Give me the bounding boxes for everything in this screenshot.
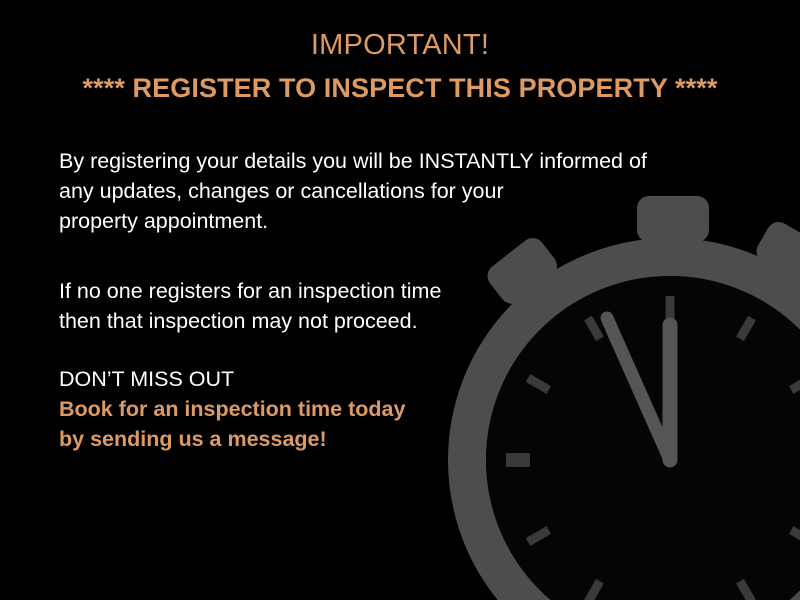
call-to-action-block: DON’T MISS OUT Book for an inspection ti… — [59, 364, 405, 454]
cta-dont-miss-out: DON’T MISS OUT — [59, 364, 405, 394]
page-title: IMPORTANT! — [0, 30, 800, 62]
slide-content: IMPORTANT! **** REGISTER TO INSPECT THIS… — [0, 0, 800, 600]
body-paragraph-registration-benefit: By registering your details you will be … — [59, 146, 647, 236]
promotional-slide: IMPORTANT! **** REGISTER TO INSPECT THIS… — [0, 0, 800, 600]
page-subtitle: **** REGISTER TO INSPECT THIS PROPERTY *… — [0, 74, 800, 104]
cta-book-inspection: Book for an inspection time today — [59, 394, 405, 424]
body-paragraph-no-registration-warning: If no one registers for an inspection ti… — [59, 276, 441, 336]
cta-send-message: by sending us a message! — [59, 424, 405, 454]
